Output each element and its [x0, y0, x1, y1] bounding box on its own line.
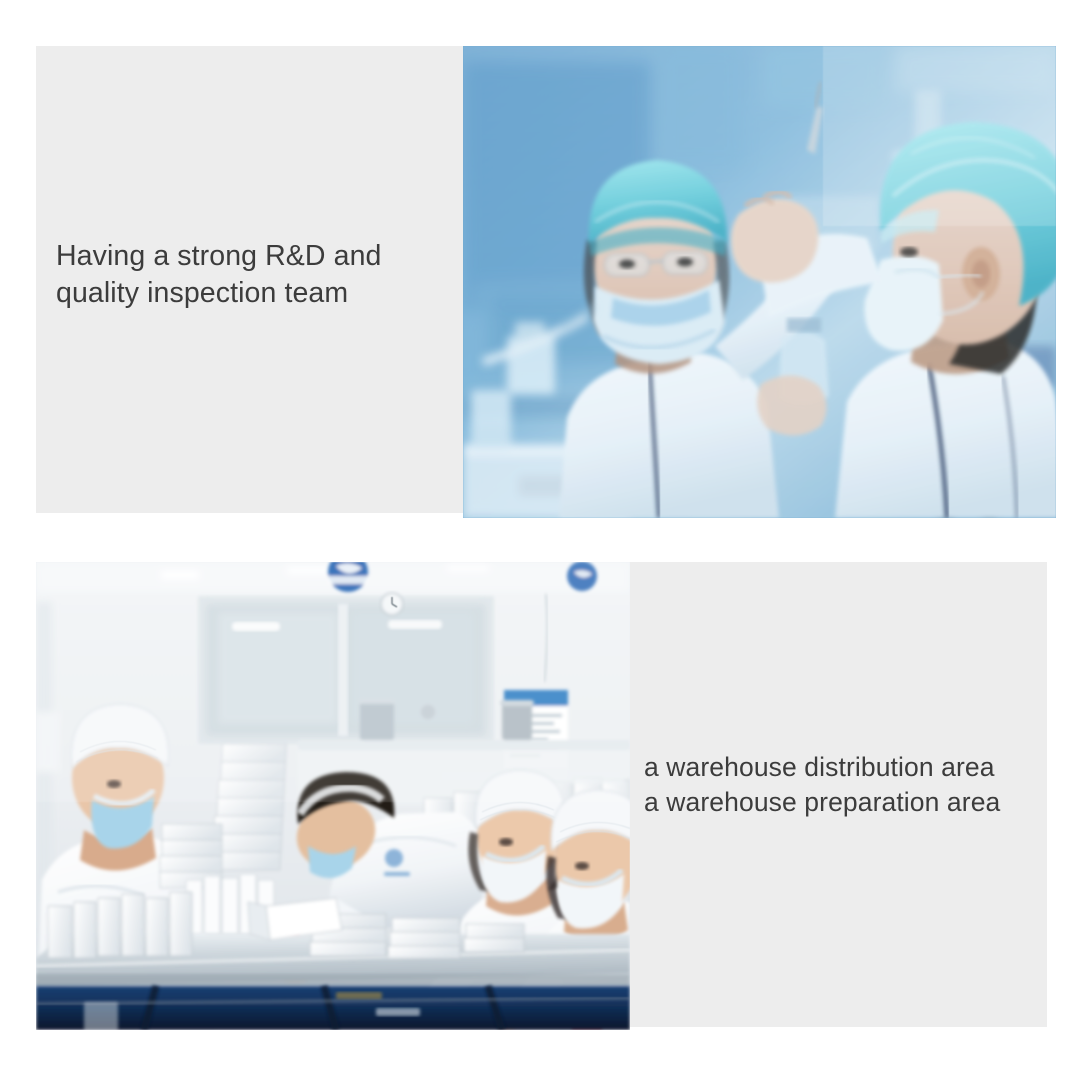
warehouse-scene-art	[36, 562, 630, 1030]
section-warehouse-areas: a warehouse distribution area a warehous…	[36, 562, 1047, 1030]
section-rnd-quality: Having a strong R&D and quality inspecti…	[36, 46, 1056, 518]
lab-scene	[463, 46, 1056, 518]
caption-panel-top: Having a strong R&D and quality inspecti…	[36, 46, 463, 513]
page-root: Having a strong R&D and quality inspecti…	[0, 0, 1080, 1080]
warehouse-scene	[36, 562, 630, 1030]
lab-scene-art	[463, 46, 1056, 518]
caption-warehouse-areas: a warehouse distribution area a warehous…	[644, 750, 1064, 820]
blue-undershelf	[36, 986, 630, 1030]
caption-rnd-quality: Having a strong R&D and quality inspecti…	[56, 238, 456, 312]
lab-technicians-photo	[463, 46, 1056, 518]
warehouse-packing-photo	[36, 562, 630, 1030]
